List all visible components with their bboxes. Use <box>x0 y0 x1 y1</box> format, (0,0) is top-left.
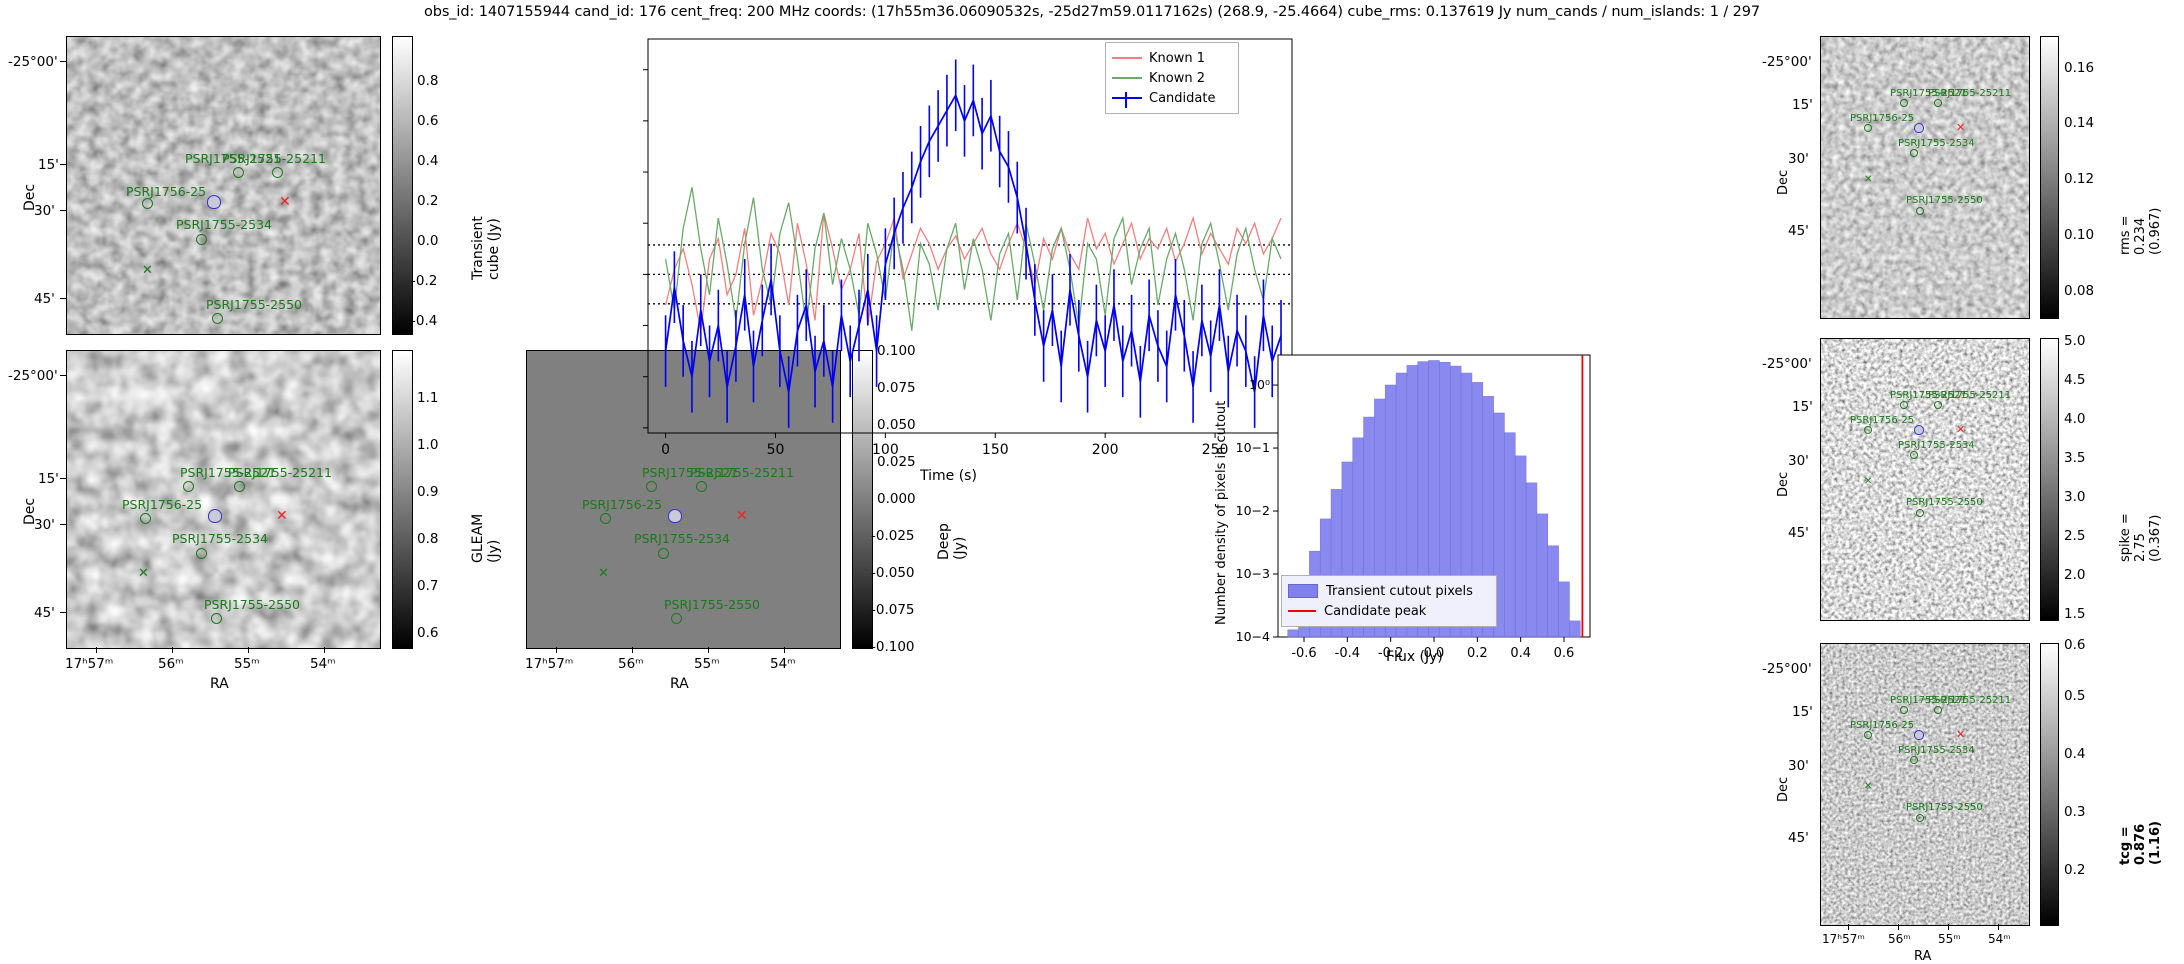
tcg-ra-tick-1 <box>1898 924 1899 930</box>
gleam-cbar-tick-1: 1.0 <box>417 437 438 453</box>
rms-colorbar <box>2040 36 2059 319</box>
rms-cbar-tick-3: 0.10 <box>2064 227 2094 243</box>
legend-item-cutout-pixels: Transient cutout pixels <box>1288 581 1488 601</box>
rms-cbar-tick-0: 0.16 <box>2064 60 2094 76</box>
svg-text:0.2: 0.2 <box>1467 646 1488 661</box>
gleam-ra-tick-3 <box>324 647 325 653</box>
tcg-ra-label-3: 54ᵐ <box>1988 932 2011 946</box>
legend-item-candidate: Candidate <box>1112 88 1230 108</box>
tcg-ra-tick-0 <box>1848 924 1849 930</box>
dec-tick-2 <box>60 210 66 211</box>
gleam-dec-tick-0: -25°00' <box>8 368 58 384</box>
gleam-pulsar-marker-4 <box>211 613 222 624</box>
gleam-dec-tick-3: 45' <box>34 605 55 621</box>
tcg-dec-tick-1: 15' <box>1792 704 1813 720</box>
tcg-ra-label-2: 55ᵐ <box>1938 932 1961 946</box>
tcg-axis-label-ra: RA <box>1914 949 1931 964</box>
histogram-legend: Transient cutout pixels Candidate peak <box>1281 575 1497 627</box>
rms-pulsar-marker-1 <box>1934 99 1942 107</box>
spike-pulsar-label-4: PSRJ1755-2550 <box>1906 497 1983 508</box>
rms-pulsar-marker-4 <box>1916 207 1924 215</box>
rms-cbar-tick-2: 0.12 <box>2064 171 2094 187</box>
cbar-tick-2: 0.4 <box>417 153 438 169</box>
transient-cube-image <box>66 36 381 335</box>
island-contour-marker <box>207 195 221 209</box>
spike-cbar-tick-6: 2.0 <box>2064 567 2085 583</box>
deep-cbar-tick-6: -0.050 <box>871 565 915 581</box>
svg-text:150: 150 <box>982 442 1009 458</box>
rms-target-x-marker: ✕ <box>1956 122 1965 133</box>
spike-dec-tick-3: 45' <box>1788 525 1809 541</box>
transient-cube-colorbar <box>392 36 413 335</box>
panel-gleam: -25°00' 15' 30' 45' Dec PSRJ1755-2521 PS… <box>0 345 520 960</box>
deep-pulsar-marker-4 <box>671 613 682 624</box>
svg-text:50: 50 <box>767 442 785 458</box>
rms-pulsar-marker-3 <box>1910 149 1918 157</box>
svg-text:10−1: 10−1 <box>1236 440 1270 455</box>
rms-image <box>1820 36 2030 319</box>
source-x-marker: ✕ <box>142 264 153 277</box>
gleam-dec-tick-mark-2 <box>60 524 66 525</box>
spike-pulsar-label-2: PSRJ1756-25 <box>1850 415 1914 426</box>
gleam-colorbar <box>392 350 413 649</box>
tcg-ra-label-0: 17ʰ57ᵐ <box>1822 932 1865 946</box>
pulsar-marker-3 <box>196 234 207 245</box>
svg-text:-0.6: -0.6 <box>1291 646 1316 661</box>
gleam-dec-tick-mark-3 <box>60 612 66 613</box>
spike-cbar-tick-7: 1.5 <box>2064 606 2085 622</box>
spike-image <box>1820 338 2030 621</box>
spike-dec-tick-2: 30' <box>1788 453 1809 469</box>
spike-pulsar-marker-1 <box>1934 401 1942 409</box>
rms-dec-tick-2: 30' <box>1788 151 1809 167</box>
spike-pulsar-marker-3 <box>1910 451 1918 459</box>
spike-dec-tick-0: -25°00' <box>1762 356 1812 372</box>
tcg-pulsar-label-4: PSRJ1755-2550 <box>1906 802 1983 813</box>
deep-pulsar-marker-2 <box>600 513 611 524</box>
gleam-pulsar-marker-1 <box>234 481 245 492</box>
rms-source-x-marker: ✕ <box>1864 175 1872 185</box>
deep-island-contour-marker <box>668 509 682 523</box>
pulsar-label-4: PSRJ1755-2550 <box>206 297 302 312</box>
tcg-axis-label-dec: Dec <box>1776 777 1791 802</box>
rms-dec-tick-0: -25°00' <box>1762 54 1812 70</box>
gleam-cbar-tick-0: 1.1 <box>417 390 438 406</box>
gleam-dec-tick-mark-0 <box>60 375 66 376</box>
cbar-tick-3: 0.2 <box>417 193 438 209</box>
rms-dec-tick-1: 15' <box>1792 97 1813 113</box>
tcg-pulsar-marker-4 <box>1916 814 1924 822</box>
tcg-pulsar-marker-2 <box>1864 731 1872 739</box>
legend-swatch-candidate <box>1112 97 1142 99</box>
pulsar-marker-1 <box>272 167 283 178</box>
svg-text:200: 200 <box>1092 442 1119 458</box>
tcg-cbar-tick-0: 0.6 <box>2064 637 2085 653</box>
rms-cbar-tick-1: 0.14 <box>2064 115 2094 131</box>
panel-lightcurve: 050100150200250 Time (s) Known 1 Known 2… <box>600 25 1300 495</box>
panel-histogram: -0.6-0.4-0.20.00.20.40.610−410−310−210−1… <box>1200 345 1600 960</box>
legend-label-candidate-peak: Candidate peak <box>1324 604 1426 619</box>
gleam-ra-label-1: 56ᵐ <box>158 656 184 672</box>
rms-dec-tick-3: 45' <box>1788 223 1809 239</box>
pulsar-marker-2 <box>142 198 153 209</box>
tcg-dec-tick-0: -25°00' <box>1762 661 1812 677</box>
cbar-tick-5: -0.2 <box>411 273 437 289</box>
tcg-pulsar-marker-0 <box>1900 706 1908 714</box>
dec-tick-label-1: 15' <box>38 157 59 173</box>
svg-text:10−2: 10−2 <box>1236 503 1270 518</box>
panel-transient-cube: -25°00' 15' 30' 45' Dec PSRJ1755-2521 PS… <box>0 25 520 345</box>
gleam-cbar-tick-4: 0.7 <box>417 578 438 594</box>
gleam-axis-label-dec: Dec <box>22 498 38 525</box>
spike-cbar-tick-3: 3.5 <box>2064 450 2085 466</box>
target-x-marker: ✕ <box>279 195 291 209</box>
panel-rms: -25°00' 15' 30' 45' Dec PSRJ1755-2521 PS… <box>1770 25 2184 330</box>
dec-tick-label-0: -25°00' <box>8 54 58 70</box>
rms-cbar-tick-4: 0.08 <box>2064 283 2094 299</box>
cbar-tick-4: 0.0 <box>417 233 438 249</box>
deep-pulsar-label-2: PSRJ1756-25 <box>582 497 662 512</box>
spike-pulsar-marker-0 <box>1900 401 1908 409</box>
rms-pulsar-label-3: PSRJ1755-2534 <box>1898 138 1975 149</box>
deep-ra-tick-3 <box>784 647 785 653</box>
histogram-axis-label-x: Flux (Jy) <box>1386 649 1443 665</box>
tcg-image <box>1820 643 2030 926</box>
legend-label-candidate: Candidate <box>1149 91 1215 106</box>
tcg-dec-tick-3: 45' <box>1788 830 1809 846</box>
svg-text:-0.4: -0.4 <box>1335 646 1360 661</box>
deep-ra-tick-2 <box>708 647 709 653</box>
gleam-ra-tick-2 <box>248 647 249 653</box>
rms-pulsar-label-1: PSRJ1755-25211 <box>1928 88 2011 99</box>
legend-label-cutout-pixels: Transient cutout pixels <box>1326 584 1473 599</box>
tcg-cbar-label: tcg = 0.876 (1.16) <box>2118 799 2163 865</box>
spike-dec-tick-1: 15' <box>1792 399 1813 415</box>
cbar-label-transient-cube: Transient cube (Jy) <box>470 216 502 280</box>
rms-axis-label-dec: Dec <box>1776 170 1791 195</box>
tcg-pulsar-marker-3 <box>1910 756 1918 764</box>
legend-swatch-known2 <box>1112 77 1142 79</box>
legend-swatch-cutout-pixels <box>1288 584 1318 598</box>
deep-pulsar-label-3: PSRJ1755-2534 <box>634 531 730 546</box>
legend-swatch-candidate-peak <box>1288 610 1316 612</box>
gleam-cbar-tick-2: 0.9 <box>417 484 438 500</box>
tcg-cbar-tick-2: 0.4 <box>2064 746 2085 762</box>
deep-ra-label-0: 17ʰ57ᵐ <box>525 656 573 672</box>
spike-axis-label-dec: Dec <box>1776 472 1791 497</box>
gleam-ra-label-3: 54ᵐ <box>310 656 336 672</box>
legend-item-known1: Known 1 <box>1112 48 1230 68</box>
tcg-cbar-tick-1: 0.5 <box>2064 688 2085 704</box>
deep-ra-label-3: 54ᵐ <box>770 656 796 672</box>
spike-cbar-tick-0: 5.0 <box>2064 333 2085 349</box>
svg-text:10−3: 10−3 <box>1236 566 1270 581</box>
cbar-tick-6: -0.4 <box>411 313 437 329</box>
pulsar-label-2: PSRJ1756-25 <box>126 184 206 199</box>
deep-pulsar-marker-3 <box>658 548 669 559</box>
rms-pulsar-marker-0 <box>1900 99 1908 107</box>
rms-pulsar-label-4: PSRJ1755-2550 <box>1906 195 1983 206</box>
gleam-target-x-marker: ✕ <box>276 509 288 523</box>
dec-tick-label-3: 45' <box>34 291 55 307</box>
lightcurve-axis-label-x: Time (s) <box>920 468 977 484</box>
tcg-pulsar-label-3: PSRJ1755-2534 <box>1898 745 1975 756</box>
tcg-island-contour-marker <box>1914 730 1924 740</box>
dec-tick-0 <box>60 61 66 62</box>
panel-spike: -25°00' 15' 30' 45' Dec PSRJ1755-2521 PS… <box>1770 330 2184 635</box>
svg-text:10−4: 10−4 <box>1236 629 1270 644</box>
svg-text:100: 100 <box>872 442 899 458</box>
legend-label-known1: Known 1 <box>1149 51 1205 66</box>
pulsar-label-3: PSRJ1755-2534 <box>176 217 272 232</box>
pulsar-marker-4 <box>212 313 223 324</box>
svg-text:0: 0 <box>661 442 670 458</box>
spike-source-x-marker: ✕ <box>1864 477 1872 487</box>
cbar-tick-1: 0.6 <box>417 113 438 129</box>
tcg-dec-tick-2: 30' <box>1788 758 1809 774</box>
gleam-dec-tick-mark-1 <box>60 478 66 479</box>
rms-pulsar-marker-2 <box>1864 124 1872 132</box>
gleam-cbar-tick-5: 0.6 <box>417 625 438 641</box>
lightcurve-legend: Known 1 Known 2 Candidate <box>1105 42 1239 114</box>
deep-target-x-marker: ✕ <box>736 509 748 523</box>
gleam-pulsar-marker-0 <box>183 481 194 492</box>
svg-text:10⁰: 10⁰ <box>1249 377 1270 392</box>
tcg-colorbar <box>2040 643 2059 926</box>
svg-text:0.6: 0.6 <box>1554 646 1575 661</box>
deep-cbar-tick-7: -0.075 <box>871 602 915 618</box>
gleam-ra-label-2: 55ᵐ <box>234 656 260 672</box>
dec-tick-1 <box>60 164 66 165</box>
rms-island-contour-marker <box>1914 123 1924 133</box>
rms-pulsar-label-2: PSRJ1756-25 <box>1850 113 1914 124</box>
tcg-cbar-tick-4: 0.2 <box>2064 862 2085 878</box>
histogram-axis-label-y: Number density of pixels in cutout <box>1214 401 1229 625</box>
histogram-plot[interactable]: -0.6-0.4-0.20.00.20.40.610−410−310−210−1… <box>1200 345 1600 685</box>
dec-tick-3 <box>60 298 66 299</box>
spike-colorbar <box>2040 338 2059 621</box>
deep-ra-tick-0 <box>556 647 557 653</box>
axis-label-dec: Dec <box>22 184 38 211</box>
gleam-ra-label-0: 17ʰ57ᵐ <box>65 656 113 672</box>
panel-tcg: -25°00' 15' 30' 45' Dec PSRJ1755-2521 PS… <box>1770 635 2184 960</box>
spike-cbar-tick-1: 4.5 <box>2064 372 2085 388</box>
spike-pulsar-marker-4 <box>1916 509 1924 517</box>
spike-pulsar-label-1: PSRJ1755-25211 <box>1928 390 2011 401</box>
page-title: obs_id: 1407155944 cand_id: 176 cent_fre… <box>0 4 2184 20</box>
gleam-island-contour-marker <box>208 509 222 523</box>
pulsar-label-1: PSRJ1755-25211 <box>222 151 326 166</box>
spike-cbar-tick-4: 3.0 <box>2064 489 2085 505</box>
tcg-pulsar-marker-1 <box>1934 706 1942 714</box>
gleam-axis-label-ra: RA <box>210 676 229 692</box>
tcg-ra-tick-2 <box>1948 924 1949 930</box>
tcg-target-x-marker: ✕ <box>1956 729 1965 740</box>
tcg-pulsar-label-2: PSRJ1756-25 <box>1850 720 1914 731</box>
deep-ra-tick-1 <box>632 647 633 653</box>
gleam-dec-tick-1: 15' <box>38 471 59 487</box>
svg-text:0.4: 0.4 <box>1510 646 1531 661</box>
deep-ra-label-1: 56ᵐ <box>618 656 644 672</box>
spike-cbar-tick-2: 4.0 <box>2064 411 2085 427</box>
cbar-tick-0: 0.8 <box>417 73 438 89</box>
deep-pulsar-label-4: PSRJ1755-2550 <box>664 597 760 612</box>
gleam-ra-tick-0 <box>96 647 97 653</box>
gleam-pulsar-label-1: PSRJ1755-25211 <box>228 465 332 480</box>
spike-cbar-label: spike = 2.75 (0.367) <box>2118 496 2163 562</box>
deep-cbar-tick-8: -0.100 <box>871 639 915 655</box>
tcg-ra-label-1: 56ᵐ <box>1888 932 1911 946</box>
rms-cbar-label: rms = 0.234 (0.967) <box>2118 189 2163 255</box>
gleam-pulsar-marker-2 <box>140 513 151 524</box>
gleam-pulsar-label-3: PSRJ1755-2534 <box>172 531 268 546</box>
spike-cbar-tick-5: 2.5 <box>2064 528 2085 544</box>
gleam-pulsar-label-2: PSRJ1756-25 <box>122 497 202 512</box>
deep-source-x-marker: ✕ <box>598 567 609 580</box>
legend-swatch-known1 <box>1112 57 1142 59</box>
tcg-source-x-marker: ✕ <box>1864 782 1872 792</box>
deep-axis-label-ra: RA <box>670 676 689 692</box>
deep-ra-label-2: 55ᵐ <box>694 656 720 672</box>
tcg-ra-tick-3 <box>1998 924 1999 930</box>
gleam-source-x-marker: ✕ <box>138 567 149 580</box>
pulsar-marker-0 <box>233 167 244 178</box>
deep-cbar-label: Deep (Jy) <box>936 516 968 560</box>
spike-island-contour-marker <box>1914 425 1924 435</box>
legend-item-known2: Known 2 <box>1112 68 1230 88</box>
legend-label-known2: Known 2 <box>1149 71 1205 86</box>
gleam-cbar-tick-3: 0.8 <box>417 531 438 547</box>
gleam-ra-tick-1 <box>172 647 173 653</box>
tcg-cbar-tick-3: 0.3 <box>2064 804 2085 820</box>
spike-pulsar-marker-2 <box>1864 426 1872 434</box>
gleam-pulsar-marker-3 <box>196 548 207 559</box>
spike-pulsar-label-3: PSRJ1755-2534 <box>1898 440 1975 451</box>
legend-item-candidate-peak: Candidate peak <box>1288 601 1488 621</box>
tcg-pulsar-label-1: PSRJ1755-25211 <box>1928 695 2011 706</box>
spike-target-x-marker: ✕ <box>1956 424 1965 435</box>
gleam-pulsar-label-4: PSRJ1755-2550 <box>204 597 300 612</box>
deep-cbar-tick-5: -0.025 <box>871 528 915 544</box>
